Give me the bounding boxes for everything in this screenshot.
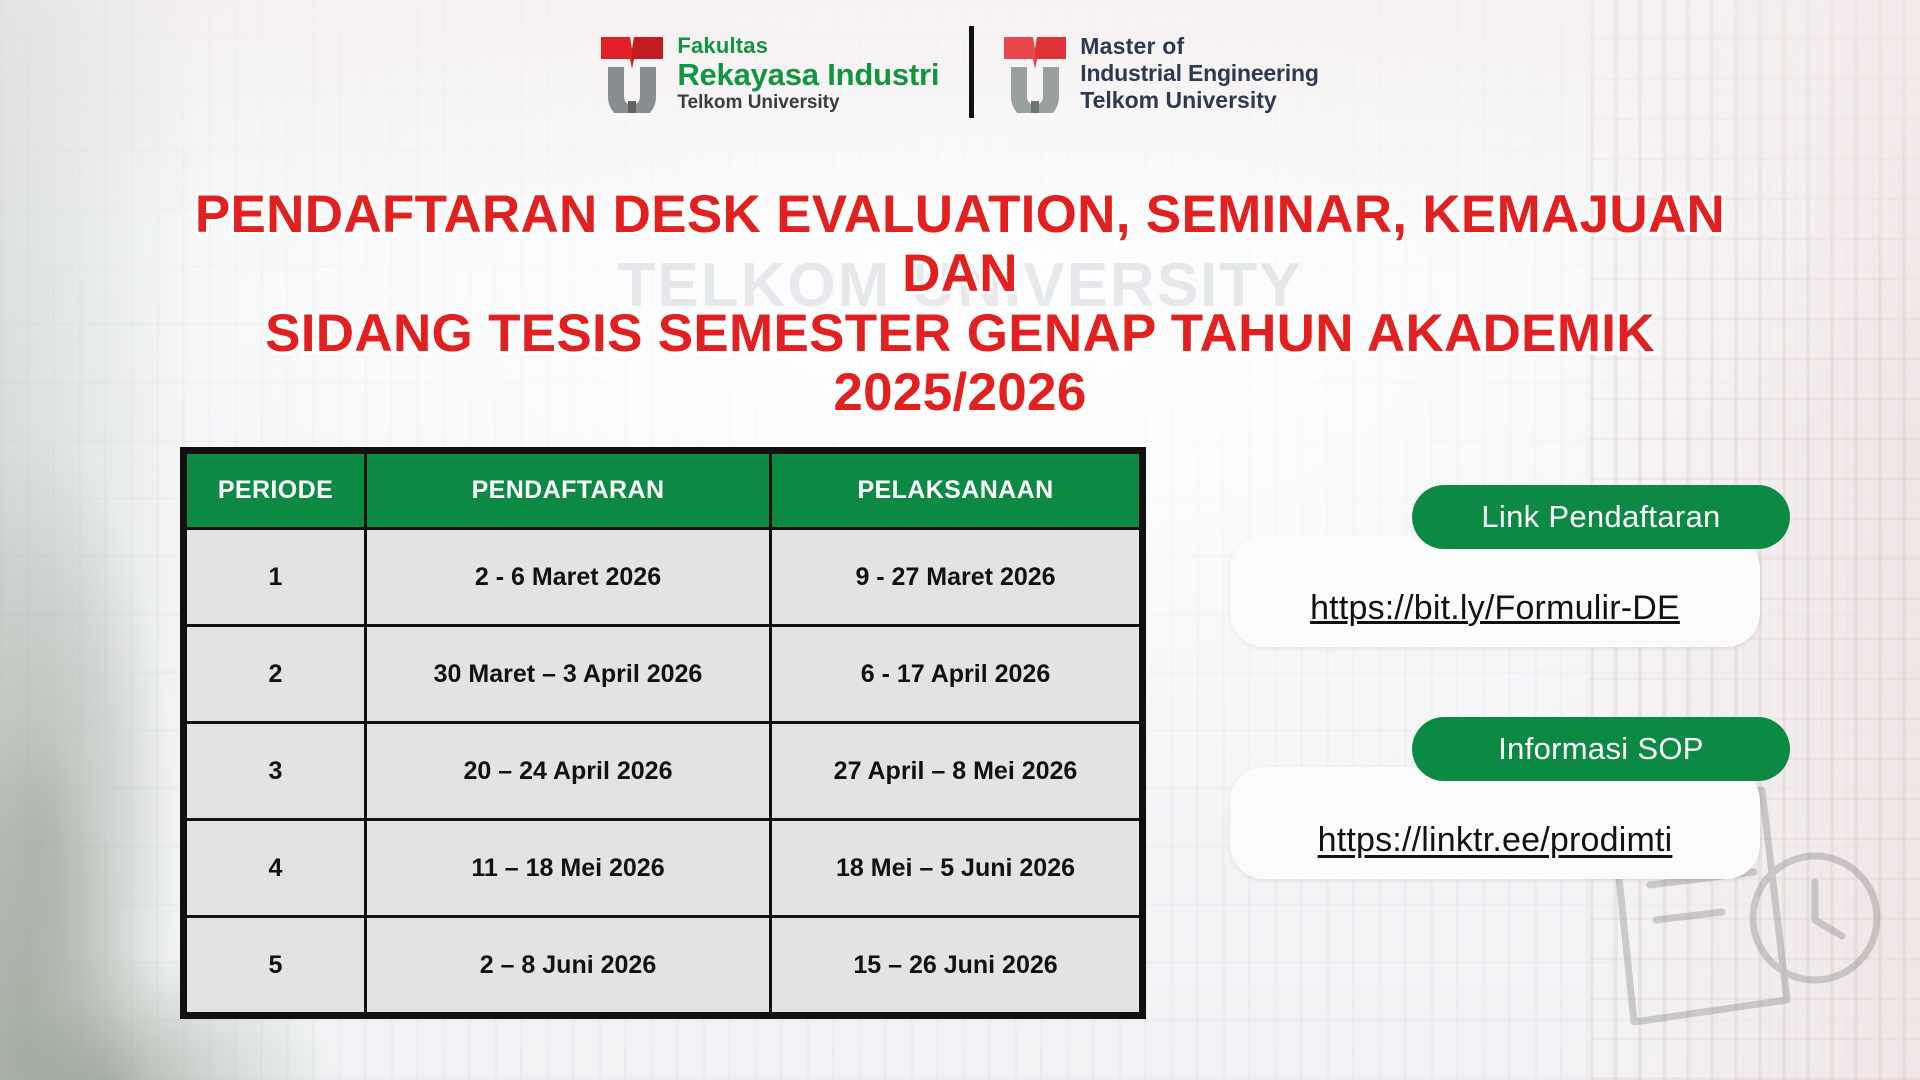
logo-right-line3: Telkom University <box>1080 89 1318 112</box>
registration-url-link[interactable]: https://bit.ly/Formulir-DE <box>1310 589 1680 628</box>
cell-periode: 2 <box>186 626 366 723</box>
logo-master-industrial-engineering: Master of Industrial Engineering Telkom … <box>1004 31 1318 113</box>
cell-pelaksanaan: 15 – 26 Juni 2026 <box>771 917 1141 1014</box>
cell-pelaksanaan: 6 - 17 April 2026 <box>771 626 1141 723</box>
cell-periode: 1 <box>186 529 366 626</box>
table-row: 3 20 – 24 April 2026 27 April – 8 Mei 20… <box>186 723 1141 820</box>
column-header-periode: PERIODE <box>186 453 366 529</box>
cell-periode: 4 <box>186 820 366 917</box>
cell-pendaftaran: 11 – 18 Mei 2026 <box>366 820 771 917</box>
logo-left-line2: Rekayasa Industri <box>677 59 939 90</box>
table-row: 2 30 Maret – 3 April 2026 6 - 17 April 2… <box>186 626 1141 723</box>
schedule-table-head: PERIODE PENDAFTARAN PELAKSANAAN <box>186 453 1141 529</box>
cell-pendaftaran: 2 - 6 Maret 2026 <box>366 529 771 626</box>
table-header-row: PERIODE PENDAFTARAN PELAKSANAAN <box>186 453 1141 529</box>
table-row: 4 11 – 18 Mei 2026 18 Mei – 5 Juni 2026 <box>186 820 1141 917</box>
cell-periode: 3 <box>186 723 366 820</box>
logo-text-right: Master of Industrial Engineering Telkom … <box>1080 31 1318 112</box>
logo-bar: Fakultas Rekayasa Industri Telkom Univer… <box>0 26 1920 118</box>
column-header-pendaftaran: PENDAFTARAN <box>366 453 771 529</box>
logo-right-line2: Industrial Engineering <box>1080 62 1318 85</box>
column-header-pelaksanaan: PELAKSANAAN <box>771 453 1141 529</box>
cell-pelaksanaan: 9 - 27 Maret 2026 <box>771 529 1141 626</box>
open-book-icon <box>1004 35 1066 69</box>
schedule-table: PERIODE PENDAFTARAN PELAKSANAAN 1 2 - 6 … <box>184 451 1142 1015</box>
schedule-table-wrapper: PERIODE PENDAFTARAN PELAKSANAAN 1 2 - 6 … <box>180 447 1146 1019</box>
logo-left-line3: Telkom University <box>677 93 939 112</box>
links-panel: https://bit.ly/Formulir-DE Link Pendafta… <box>1230 485 1790 949</box>
cell-pendaftaran: 20 – 24 April 2026 <box>366 723 771 820</box>
telkom-logo-mark-right <box>1004 31 1066 113</box>
logo-right-line1: Master of <box>1080 35 1318 58</box>
title-line-2: SIDANG TESIS SEMESTER GENAP TAHUN AKADEM… <box>140 304 1780 363</box>
table-row: 5 2 – 8 Juni 2026 15 – 26 Juni 2026 <box>186 917 1141 1014</box>
title-line-3: 2025/2026 <box>140 363 1780 422</box>
schedule-table-body: 1 2 - 6 Maret 2026 9 - 27 Maret 2026 2 3… <box>186 529 1141 1014</box>
cell-pendaftaran: 30 Maret – 3 April 2026 <box>366 626 771 723</box>
poster-canvas: TELKOM UNIVERSITY <box>0 0 1920 1080</box>
logo-text-left: Fakultas Rekayasa Industri Telkom Univer… <box>677 31 939 112</box>
logo-fakultas-rekayasa-industri: Fakultas Rekayasa Industri Telkom Univer… <box>601 31 939 113</box>
u-magnet-icon <box>1011 67 1059 113</box>
informasi-sop-button[interactable]: Informasi SOP <box>1412 717 1790 781</box>
link-group-pendaftaran: https://bit.ly/Formulir-DE Link Pendafta… <box>1230 485 1790 655</box>
page-title: PENDAFTARAN DESK EVALUATION, SEMINAR, KE… <box>140 185 1780 422</box>
cell-periode: 5 <box>186 917 366 1014</box>
link-card-sop: https://linktr.ee/prodimti <box>1230 767 1760 879</box>
cell-pendaftaran: 2 – 8 Juni 2026 <box>366 917 771 1014</box>
link-group-sop: https://linktr.ee/prodimti Informasi SOP <box>1230 717 1790 887</box>
logo-left-line1: Fakultas <box>677 35 939 57</box>
cell-pelaksanaan: 18 Mei – 5 Juni 2026 <box>771 820 1141 917</box>
open-book-icon <box>601 35 663 69</box>
u-magnet-icon <box>608 67 656 113</box>
link-card-pendaftaran: https://bit.ly/Formulir-DE <box>1230 535 1760 647</box>
title-line-1: PENDAFTARAN DESK EVALUATION, SEMINAR, KE… <box>195 185 1725 303</box>
link-pendaftaran-button[interactable]: Link Pendaftaran <box>1412 485 1790 549</box>
logo-divider <box>969 26 974 118</box>
sop-url-link[interactable]: https://linktr.ee/prodimti <box>1318 821 1673 860</box>
cell-pelaksanaan: 27 April – 8 Mei 2026 <box>771 723 1141 820</box>
telkom-logo-mark-left <box>601 31 663 113</box>
table-row: 1 2 - 6 Maret 2026 9 - 27 Maret 2026 <box>186 529 1141 626</box>
